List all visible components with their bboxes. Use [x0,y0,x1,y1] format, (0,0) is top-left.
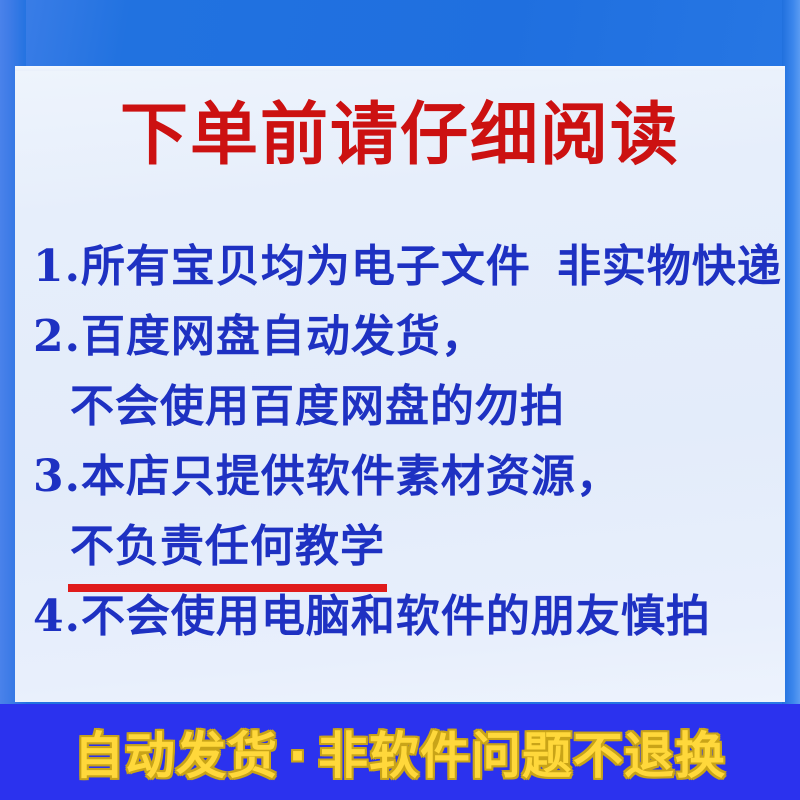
list-item-text: 所有宝贝均为电子文件 [81,241,531,292]
notice-list: 1.所有宝贝均为电子文件非实物快递 2.百度网盘自动发货， 不会使用百度网盘的勿… [15,232,785,652]
list-item-text-secondary: 非实物快递 [557,241,782,292]
list-item-text: 不会使用电脑和软件的朋友慎拍 [81,591,711,642]
list-item-continuation: 不会使用百度网盘的勿拍 [15,372,785,442]
list-item: 4.不会使用电脑和软件的朋友慎拍 [15,582,785,652]
list-item-text: 百度网盘自动发货， [81,311,486,362]
list-item-number: 3. [33,442,81,512]
list-item: 3.本店只提供软件素材资源， [15,442,785,512]
list-item-number: 4. [33,582,81,652]
banner-left-text: 自动发货 [74,727,278,785]
banner-separator: · [278,727,318,785]
list-item: 2.百度网盘自动发货， [15,302,785,372]
list-item-continuation-text: 不负责任何教学 [70,521,385,572]
banner-right-text: 非软件问题不退换 [318,727,726,785]
list-item-number: 1. [33,232,81,302]
list-item-continuation: 不负责任何教学 [15,512,785,582]
list-item-text: 本店只提供软件素材资源， [81,451,621,502]
emphasis-underlined: 不负责任何教学 [70,512,385,582]
bottom-banner-text: 自动发货·非软件问题不退换 [74,716,726,788]
list-item-continuation-text: 不会使用百度网盘的勿拍 [70,381,565,432]
promo-poster: 下单前请仔细阅读 1.所有宝贝均为电子文件非实物快递 2.百度网盘自动发货， 不… [0,0,800,800]
list-item-number: 2. [33,302,81,372]
list-item: 1.所有宝贝均为电子文件非实物快递 [15,232,785,302]
bottom-banner: 自动发货·非软件问题不退换 [0,704,800,800]
notice-card: 下单前请仔细阅读 1.所有宝贝均为电子文件非实物快递 2.百度网盘自动发货， 不… [15,66,785,702]
page-title: 下单前请仔细阅读 [15,94,785,176]
